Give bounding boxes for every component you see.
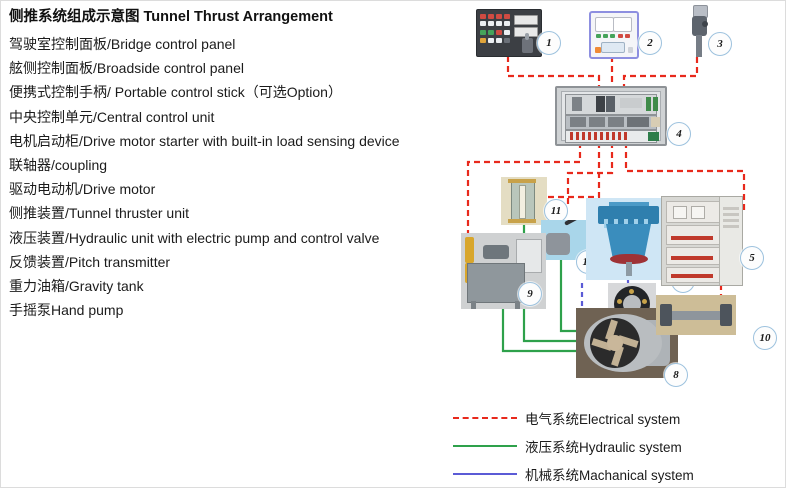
legend-item-3: 便携式控制手柄/ Portable control stick（可选Option… xyxy=(9,80,464,104)
legend-item-8: 侧推装置/Tunnel thruster unit xyxy=(9,201,464,225)
legend-item-5: 电机启动柜/Drive motor starter with built-in … xyxy=(9,129,464,153)
indicator-orange xyxy=(595,47,601,53)
stick-knob xyxy=(702,21,708,27)
badge-9: 9 xyxy=(518,282,542,306)
level-gauge xyxy=(519,185,526,219)
mechanical-label: 机械系统Machanical system xyxy=(525,464,694,484)
starter-bay-1 xyxy=(666,201,720,223)
legend-item-11: 重力油箱/Gravity tank xyxy=(9,274,464,298)
pump-body xyxy=(546,233,570,255)
cabinet-door[interactable] xyxy=(719,197,742,285)
electrical-label: 电气系统Electrical system xyxy=(525,408,680,428)
legend-item-9: 液压装置/Hydraulic unit with electric pump a… xyxy=(9,226,464,250)
central-control-unit[interactable] xyxy=(555,86,667,146)
mechanical-line-swatch xyxy=(453,473,517,475)
badge-5: 5 xyxy=(740,246,764,270)
key-row-hydraulic: 液压系统Hydraulic system xyxy=(453,434,783,458)
electrical-line-swatch xyxy=(453,417,517,419)
thruster-shaft xyxy=(626,262,632,276)
system-key: 电气系统Electrical system 液压系统Hydraulic syst… xyxy=(453,406,783,490)
system-diagram: 1 2 3 xyxy=(456,1,787,401)
display-right xyxy=(613,17,632,32)
starter-bay-2 xyxy=(666,225,720,245)
starter-bay-3 xyxy=(666,247,720,265)
oil-tank xyxy=(467,263,525,303)
control-lever[interactable] xyxy=(522,38,533,53)
key-row-mechanical: 机械系统Machanical system xyxy=(453,462,783,486)
legend-text-block: 侧推系统组成示意图 Tunnel Thrust Arrangement 驾驶室控… xyxy=(9,7,464,322)
key-row-electrical: 电气系统Electrical system xyxy=(453,406,783,430)
tunnel-thruster-unit[interactable] xyxy=(586,198,671,280)
legend-item-7: 驱动电动机/Drive motor xyxy=(9,177,464,201)
button-matrix xyxy=(480,14,514,48)
diagram-page: 侧推系统组成示意图 Tunnel Thrust Arrangement 驾驶室控… xyxy=(0,0,786,488)
badge-4: 4 xyxy=(667,122,691,146)
wire-hydraulic-12-8 xyxy=(561,260,576,331)
thruster-top-body xyxy=(598,206,659,224)
badge-1: 1 xyxy=(537,31,561,55)
page-title: 侧推系统组成示意图 Tunnel Thrust Arrangement xyxy=(9,7,464,27)
indicator-gray xyxy=(628,47,633,53)
gravity-tank[interactable] xyxy=(501,177,547,225)
legend-item-6: 联轴器/coupling xyxy=(9,153,464,177)
legend-item-12: 手摇泵Hand pump xyxy=(9,298,464,322)
filter-1 xyxy=(465,237,474,263)
display-window-top xyxy=(514,15,538,25)
wire-electrical-4-11 xyxy=(547,142,599,197)
badge-10: 10 xyxy=(753,326,777,350)
wire-electrical-1-4 xyxy=(508,56,599,86)
hydraulic-label: 液压系统Hydraulic system xyxy=(525,436,682,456)
pitch-transmitter[interactable] xyxy=(656,295,736,335)
cabinet-interior xyxy=(561,91,661,141)
thruster-housing xyxy=(606,224,651,256)
terminal-row xyxy=(565,130,657,143)
display-left xyxy=(595,17,614,32)
stick-stem xyxy=(696,35,702,57)
badge-8: 8 xyxy=(664,363,688,387)
legend-item-10: 反馈装置/Pitch transmitter xyxy=(9,250,464,274)
wire-electrical-3-4 xyxy=(624,57,697,86)
bridge-control-panel[interactable] xyxy=(476,9,542,57)
legend-item-1: 驾驶室控制面板/Bridge control panel xyxy=(9,32,464,56)
broadside-control-panel[interactable] xyxy=(589,11,639,59)
propeller-hub xyxy=(607,335,623,351)
module-row-top xyxy=(565,94,657,115)
legend-item-2: 舷侧控制面板/Broadside control panel xyxy=(9,56,464,80)
module-row-middle xyxy=(565,115,657,130)
badge-2: 2 xyxy=(638,31,662,55)
drive-motor-starter[interactable] xyxy=(661,196,743,286)
electric-pump xyxy=(483,245,509,259)
keypad[interactable] xyxy=(601,42,625,53)
badge-3: 3 xyxy=(708,32,732,56)
shaft-flange-left xyxy=(660,304,672,326)
starter-bay-4 xyxy=(666,267,720,283)
shaft-flange-right xyxy=(720,304,732,326)
hydraulic-line-swatch xyxy=(453,445,517,447)
pump-handle[interactable] xyxy=(564,220,584,226)
legend-item-4: 中央控制单元/Central control unit xyxy=(9,105,464,129)
